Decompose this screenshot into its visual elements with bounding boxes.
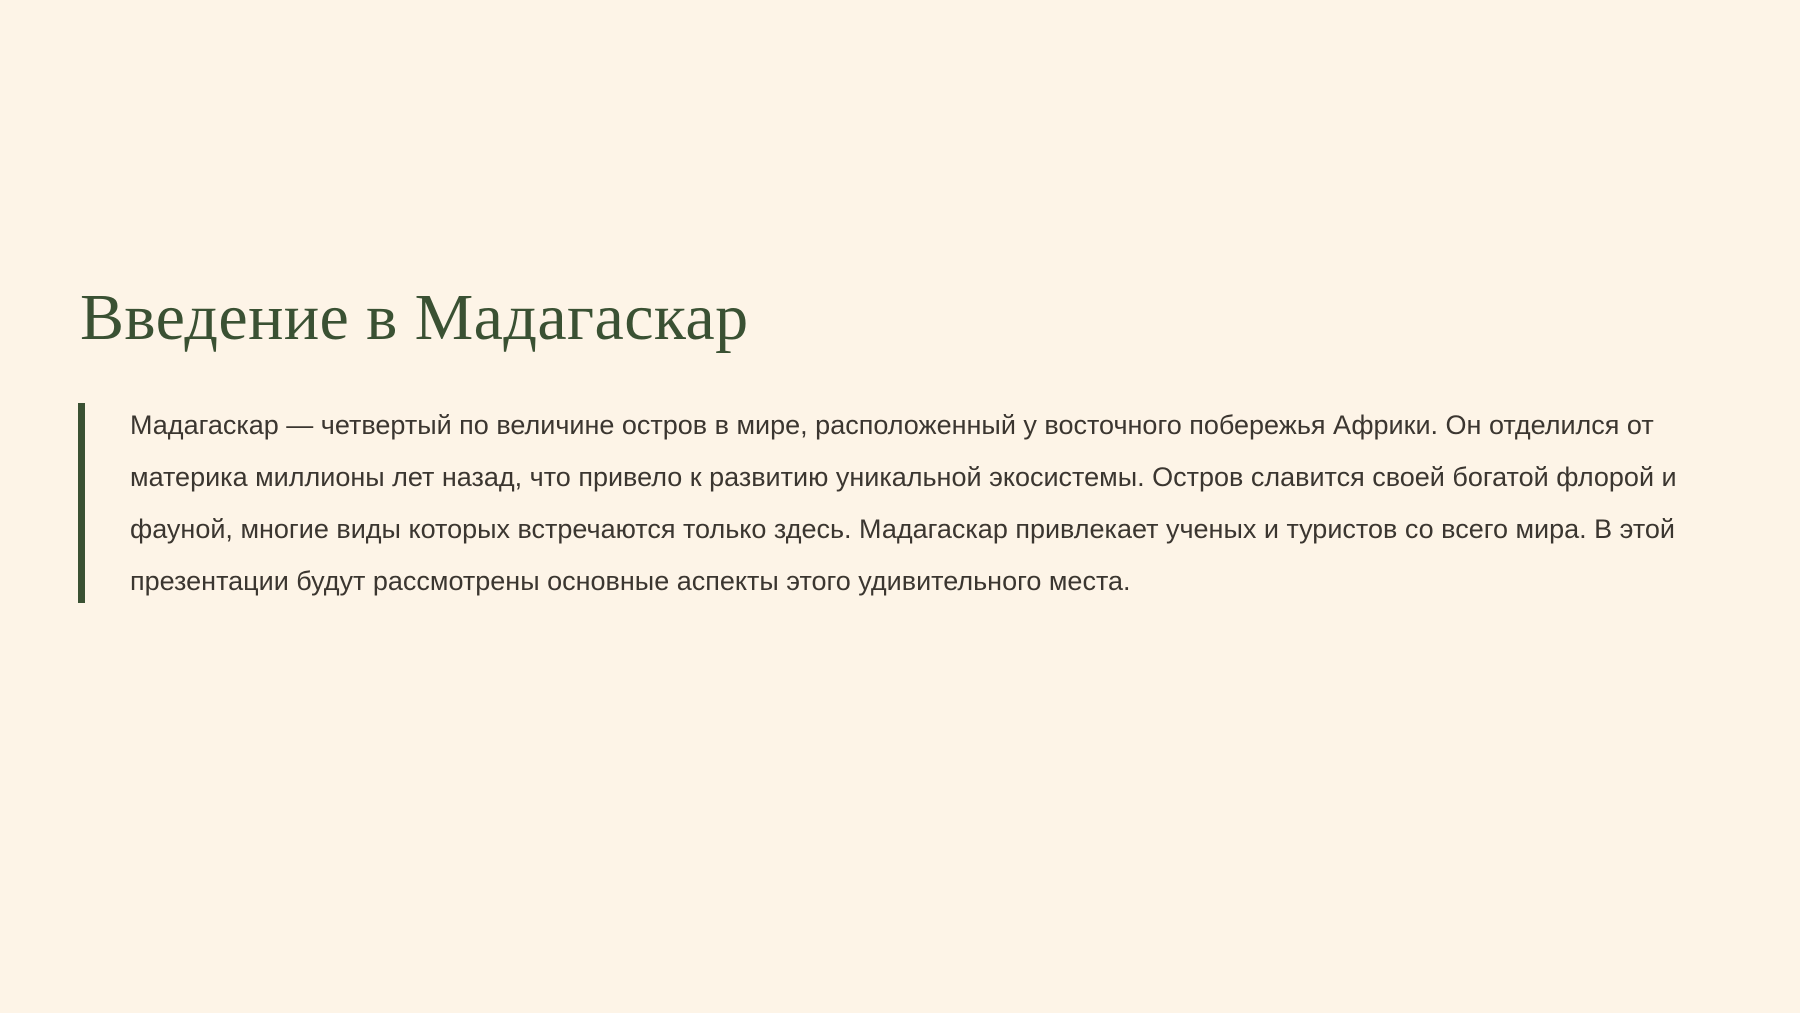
page-title: Введение в Мадагаскар [80,282,1738,353]
accent-bar [78,403,85,603]
slide-body-text: Мадагаскар — четвертый по величине остро… [130,399,1738,607]
slide-content: Введение в Мадагаскар Мадагаскар — четве… [78,282,1738,607]
body-quote-block: Мадагаскар — четвертый по величине остро… [78,399,1738,607]
presentation-slide: Введение в Мадагаскар Мадагаскар — четве… [0,0,1800,1013]
